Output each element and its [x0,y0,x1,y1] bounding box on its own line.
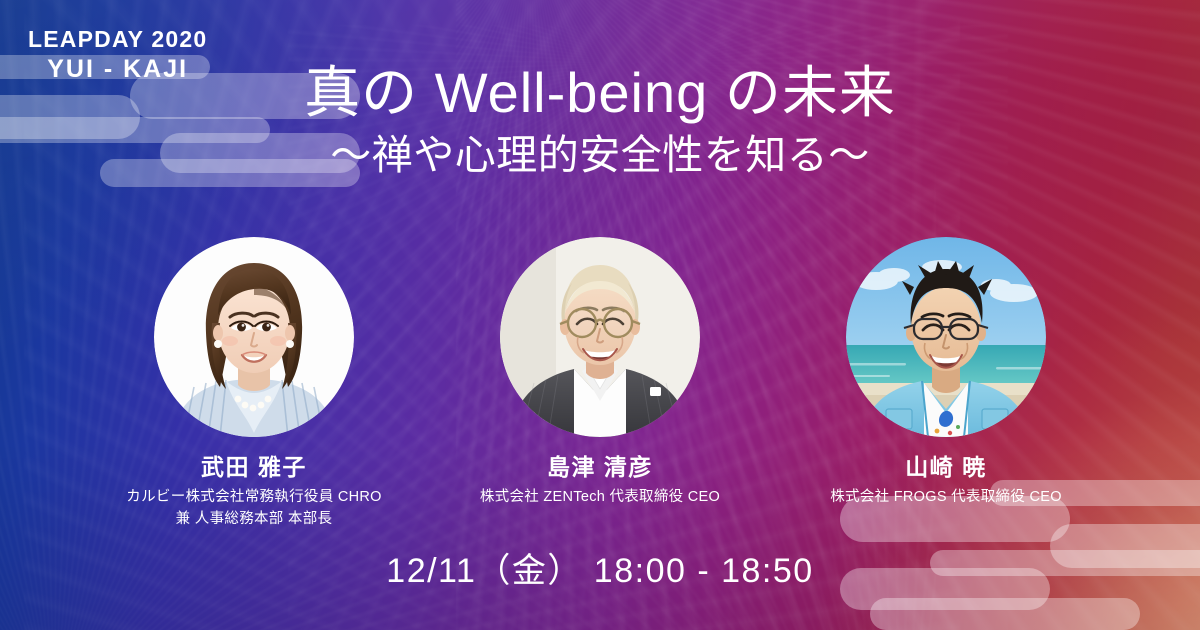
portrait-takeda-masako-icon [154,237,354,437]
page-title: 真の Well-being の未来 [0,62,1200,125]
speaker-affiliation: 株式会社 FROGS 代表取締役 CEO [830,487,1062,509]
event-datetime: 12/11（金） 18:00 - 18:50 [0,543,1200,592]
avatar [846,237,1046,437]
portrait-yamazaki-akira-icon [846,237,1046,437]
speaker-name: 山崎 暁 [905,455,986,480]
portrait-shimazu-kiyohiko-icon [500,237,700,437]
avatar [500,237,700,437]
speaker-affiliation-line-1: 株式会社 ZENTech 代表取締役 CEO [480,489,720,505]
event-poster: LEAPDAY 2020 YUI - KAJI 真の Well-being の未… [0,0,1200,630]
speaker-list: 武田 雅子 カルビー株式会社常務執行役員 CHRO 兼 人事総務本部 本部長 [0,237,1200,531]
speaker-affiliation-line-1: カルビー株式会社常務執行役員 CHRO [126,489,381,505]
avatar [154,237,354,437]
speaker-affiliation: カルビー株式会社常務執行役員 CHRO 兼 人事総務本部 本部長 [126,487,381,531]
speaker-affiliation-line-2: 兼 人事総務本部 本部長 [126,509,381,531]
speaker-affiliation-line-1: 株式会社 FROGS 代表取締役 CEO [830,489,1062,505]
speaker-card: 山崎 暁 株式会社 FROGS 代表取締役 CEO [822,237,1070,531]
speaker-card: 島津 清彦 株式会社 ZENTech 代表取締役 CEO [476,237,724,531]
speaker-card: 武田 雅子 カルビー株式会社常務執行役員 CHRO 兼 人事総務本部 本部長 [130,237,378,531]
logo-line-leapday: LEAPDAY 2020 [28,28,207,51]
speaker-name: 武田 雅子 [201,455,307,480]
title-block: 真の Well-being の未来 〜禅や心理的安全性を知る〜 [0,62,1200,180]
speaker-name: 島津 清彦 [547,455,653,480]
page-subtitle: 〜禅や心理的安全性を知る〜 [0,131,1200,180]
speaker-affiliation: 株式会社 ZENTech 代表取締役 CEO [480,487,720,509]
